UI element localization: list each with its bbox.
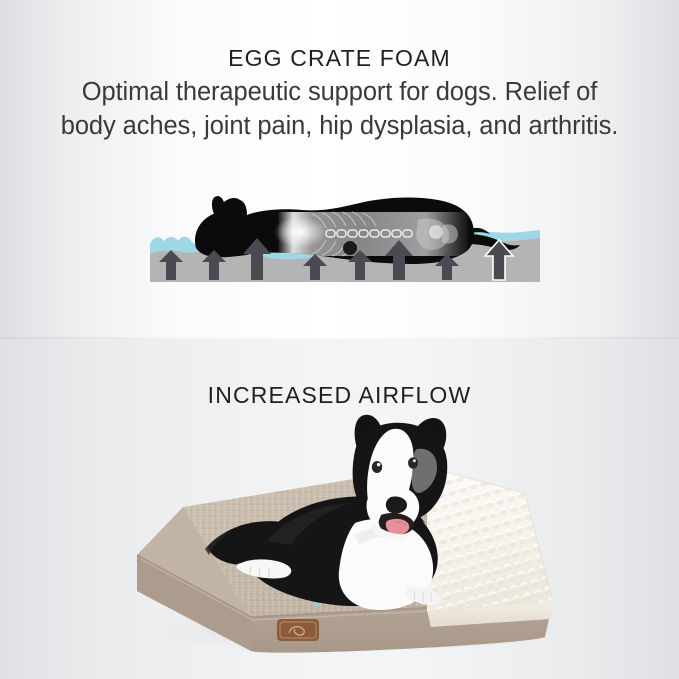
cross-section-support-diagram <box>150 172 540 304</box>
description-line-1: Optimal therapeutic support for dogs. Re… <box>18 75 661 109</box>
infographic-page: EGG CRATE FOAM Optimal therapeutic suppo… <box>0 0 679 679</box>
description-line-2: body aches, joint pain, hip dysplasia, a… <box>18 109 661 143</box>
dog-bed-product-photo <box>55 405 625 667</box>
xray-spine-overlay <box>274 212 468 256</box>
brand-logo-patch <box>277 619 319 641</box>
page-title-egg-crate-foam: EGG CRATE FOAM <box>0 45 679 72</box>
egg-crate-foam-description: Optimal therapeutic support for dogs. Re… <box>18 75 661 143</box>
